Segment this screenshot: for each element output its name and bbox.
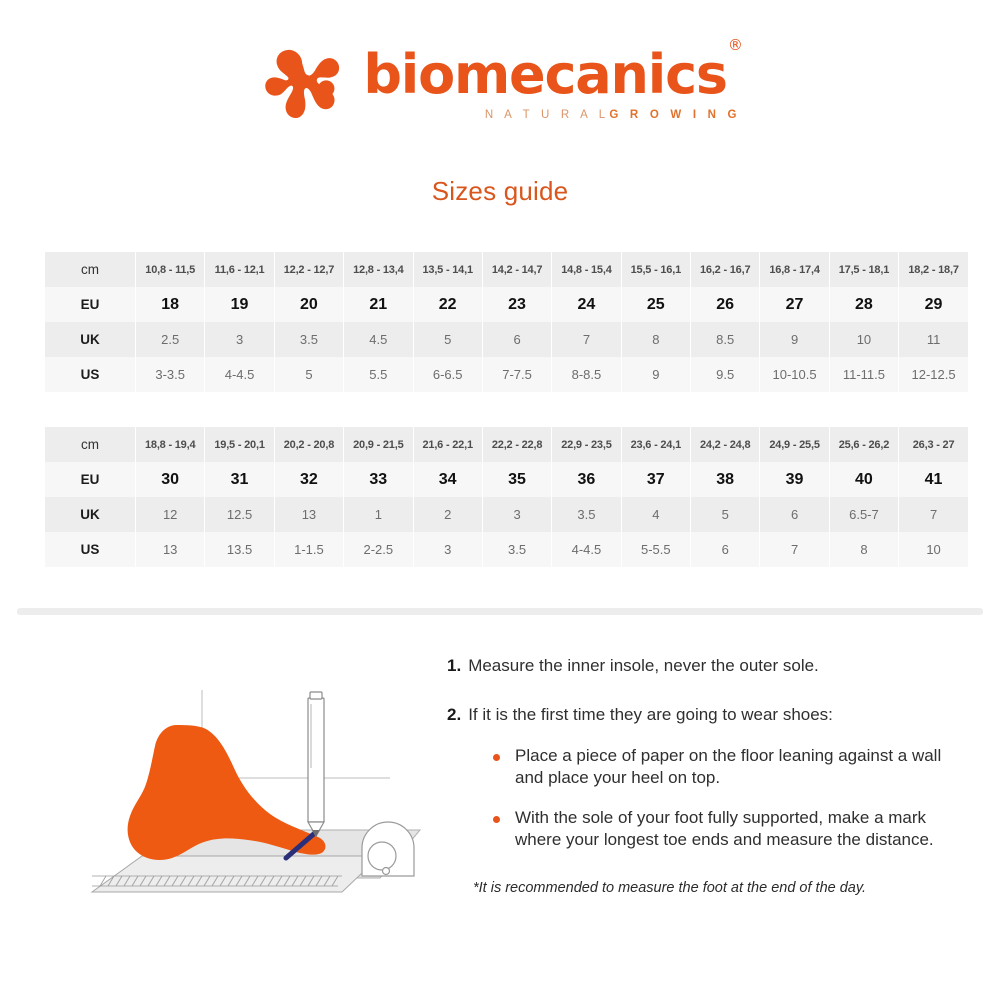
table-row: US 3-3.5 4-4.5 5 5.5 6-6.5 7-7.5 8-8.5 9… [45, 357, 968, 392]
list-item: With the sole of your foot fully support… [493, 807, 947, 852]
table-row: US 13 13.5 1-1.5 2-2.5 3 3.5 4-4.5 5-5.5… [45, 532, 968, 567]
row-label-us: US [45, 532, 136, 567]
row-label-uk: UK [45, 497, 136, 532]
cell-uk: 8 [621, 322, 690, 357]
cell-us: 9.5 [691, 357, 760, 392]
cell-us: 5.5 [344, 357, 413, 392]
cell-eu: 40 [829, 462, 898, 497]
cell-uk: 6 [760, 497, 829, 532]
cell-eu: 29 [899, 287, 968, 322]
cell-eu: 25 [621, 287, 690, 322]
cell-cm: 13,5 - 14,1 [413, 252, 482, 287]
cell-us: 12-12.5 [899, 357, 968, 392]
cell-cm: 11,6 - 12,1 [205, 252, 274, 287]
cell-cm: 22,2 - 22,8 [482, 427, 551, 462]
row-label-eu: EU [45, 462, 136, 497]
sizes-table-small: cm 10,8 - 11,5 11,6 - 12,1 12,2 - 12,7 1… [45, 252, 968, 392]
brand-logo: biomecanics® N A T U R A L G R O W I N G [0, 38, 1000, 130]
cell-eu: 20 [274, 287, 343, 322]
instruction-step-2: 2. If it is the first time they are goin… [447, 704, 947, 727]
cell-us: 6 [691, 532, 760, 567]
cell-us: 5 [274, 357, 343, 392]
table-row: UK 2.5 3 3.5 4.5 5 6 7 8 8.5 9 10 11 [45, 322, 968, 357]
cell-us: 8 [829, 532, 898, 567]
cell-uk: 5 [691, 497, 760, 532]
cell-us: 11-11.5 [829, 357, 898, 392]
cell-eu: 32 [274, 462, 343, 497]
cell-uk: 10 [829, 322, 898, 357]
cell-uk: 3.5 [274, 322, 343, 357]
cell-uk: 7 [899, 497, 968, 532]
cell-cm: 26,3 - 27 [899, 427, 968, 462]
cell-eu: 41 [899, 462, 968, 497]
cell-uk: 2.5 [136, 322, 205, 357]
cell-us: 1-1.5 [274, 532, 343, 567]
cell-us: 10-10.5 [760, 357, 829, 392]
cell-us: 3 [413, 532, 482, 567]
brand-name: biomecanics® [363, 48, 740, 102]
cell-eu: 28 [829, 287, 898, 322]
cell-uk: 12 [136, 497, 205, 532]
cell-uk: 4 [621, 497, 690, 532]
cell-eu: 36 [552, 462, 621, 497]
cell-us: 4-4.5 [552, 532, 621, 567]
cell-eu: 30 [136, 462, 205, 497]
step-text: Measure the inner insole, never the oute… [468, 655, 819, 678]
tagline-natural: N A T U R A L [485, 109, 610, 121]
cell-uk: 8.5 [691, 322, 760, 357]
cell-cm: 17,5 - 18,1 [829, 252, 898, 287]
cell-cm: 20,2 - 20,8 [274, 427, 343, 462]
tagline-growing: G R O W I N G [609, 109, 740, 121]
cell-cm: 14,2 - 14,7 [482, 252, 551, 287]
cell-uk: 5 [413, 322, 482, 357]
cell-eu: 38 [691, 462, 760, 497]
table-row: EU 18 19 20 21 22 23 24 25 26 27 28 29 [45, 287, 968, 322]
cell-eu: 24 [552, 287, 621, 322]
cell-eu: 33 [344, 462, 413, 497]
cell-eu: 39 [760, 462, 829, 497]
cell-eu: 34 [413, 462, 482, 497]
cell-uk: 6 [482, 322, 551, 357]
logo-wordmark: biomecanics® N A T U R A L G R O W I N G [363, 48, 740, 121]
list-item: Place a piece of paper on the floor lean… [493, 745, 947, 790]
table-row: UK 12 12.5 13 1 2 3 3.5 4 5 6 6.5-7 7 [45, 497, 968, 532]
sizes-guide-page: biomecanics® N A T U R A L G R O W I N G… [0, 0, 1000, 1000]
cell-us: 3-3.5 [136, 357, 205, 392]
cell-cm: 21,6 - 22,1 [413, 427, 482, 462]
cell-cm: 18,2 - 18,7 [899, 252, 968, 287]
cell-eu: 35 [482, 462, 551, 497]
cell-cm: 12,2 - 12,7 [274, 252, 343, 287]
cell-uk: 6.5-7 [829, 497, 898, 532]
cell-cm: 14,8 - 15,4 [552, 252, 621, 287]
section-divider [17, 608, 983, 615]
cell-us: 2-2.5 [344, 532, 413, 567]
cell-eu: 37 [621, 462, 690, 497]
cell-uk: 12.5 [205, 497, 274, 532]
cell-eu: 19 [205, 287, 274, 322]
cell-us: 13.5 [205, 532, 274, 567]
cell-uk: 9 [760, 322, 829, 357]
table-row: cm 18,8 - 19,4 19,5 - 20,1 20,2 - 20,8 2… [45, 427, 968, 462]
cell-us: 3.5 [482, 532, 551, 567]
registered-mark: ® [728, 36, 742, 54]
cell-uk: 2 [413, 497, 482, 532]
table-row: cm 10,8 - 11,5 11,6 - 12,1 12,2 - 12,7 1… [45, 252, 968, 287]
cell-us: 7 [760, 532, 829, 567]
pencil-icon [308, 692, 324, 837]
bullet-dot-icon [493, 754, 500, 761]
cell-eu: 27 [760, 287, 829, 322]
cell-cm: 19,5 - 20,1 [205, 427, 274, 462]
instructions-panel: 1. Measure the inner insole, never the o… [447, 655, 947, 898]
cell-us: 7-7.5 [482, 357, 551, 392]
cell-cm: 24,2 - 24,8 [691, 427, 760, 462]
cell-cm: 23,6 - 24,1 [621, 427, 690, 462]
cell-uk: 1 [344, 497, 413, 532]
foot-measuring-diagram [80, 680, 430, 910]
cell-eu: 26 [691, 287, 760, 322]
cell-us: 8-8.5 [552, 357, 621, 392]
cell-us: 5-5.5 [621, 532, 690, 567]
splat-logo-icon [259, 38, 351, 130]
cell-cm: 25,6 - 26,2 [829, 427, 898, 462]
table-row: EU 30 31 32 33 34 35 36 37 38 39 40 41 [45, 462, 968, 497]
step-number: 1. [447, 655, 461, 678]
cell-cm: 12,8 - 13,4 [344, 252, 413, 287]
step-number: 2. [447, 704, 461, 727]
row-label-cm: cm [45, 427, 136, 462]
cell-us: 4-4.5 [205, 357, 274, 392]
cell-eu: 18 [136, 287, 205, 322]
bullet-text: Place a piece of paper on the floor lean… [515, 745, 947, 790]
cell-cm: 15,5 - 16,1 [621, 252, 690, 287]
step-text: If it is the first time they are going t… [468, 704, 833, 727]
cell-uk: 7 [552, 322, 621, 357]
cell-uk: 3 [205, 322, 274, 357]
cell-uk: 13 [274, 497, 343, 532]
bullet-text: With the sole of your foot fully support… [515, 807, 947, 852]
logo-row: biomecanics® N A T U R A L G R O W I N G [259, 38, 740, 130]
cell-cm: 20,9 - 21,5 [344, 427, 413, 462]
row-label-cm: cm [45, 252, 136, 287]
row-label-uk: UK [45, 322, 136, 357]
cell-us: 9 [621, 357, 690, 392]
cell-cm: 16,2 - 16,7 [691, 252, 760, 287]
cell-cm: 24,9 - 25,5 [760, 427, 829, 462]
cell-cm: 18,8 - 19,4 [136, 427, 205, 462]
cell-uk: 3.5 [552, 497, 621, 532]
cell-uk: 3 [482, 497, 551, 532]
cell-uk: 11 [899, 322, 968, 357]
cell-us: 13 [136, 532, 205, 567]
cell-us: 6-6.5 [413, 357, 482, 392]
brand-tagline: N A T U R A L G R O W I N G [363, 109, 742, 121]
cell-cm: 22,9 - 23,5 [552, 427, 621, 462]
tape-measure-icon [362, 822, 414, 876]
cell-eu: 23 [482, 287, 551, 322]
cell-cm: 16,8 - 17,4 [760, 252, 829, 287]
cell-eu: 22 [413, 287, 482, 322]
footnote-text: *It is recommended to measure the foot a… [473, 878, 947, 899]
cell-us: 10 [899, 532, 968, 567]
sizes-table-large: cm 18,8 - 19,4 19,5 - 20,1 20,2 - 20,8 2… [45, 427, 968, 567]
bullet-dot-icon [493, 816, 500, 823]
instruction-bullet-list: Place a piece of paper on the floor lean… [493, 745, 947, 852]
cell-uk: 4.5 [344, 322, 413, 357]
page-title: Sizes guide [0, 176, 1000, 207]
row-label-eu: EU [45, 287, 136, 322]
cell-cm: 10,8 - 11,5 [136, 252, 205, 287]
instruction-step-1: 1. Measure the inner insole, never the o… [447, 655, 947, 678]
cell-eu: 31 [205, 462, 274, 497]
row-label-us: US [45, 357, 136, 392]
cell-eu: 21 [344, 287, 413, 322]
